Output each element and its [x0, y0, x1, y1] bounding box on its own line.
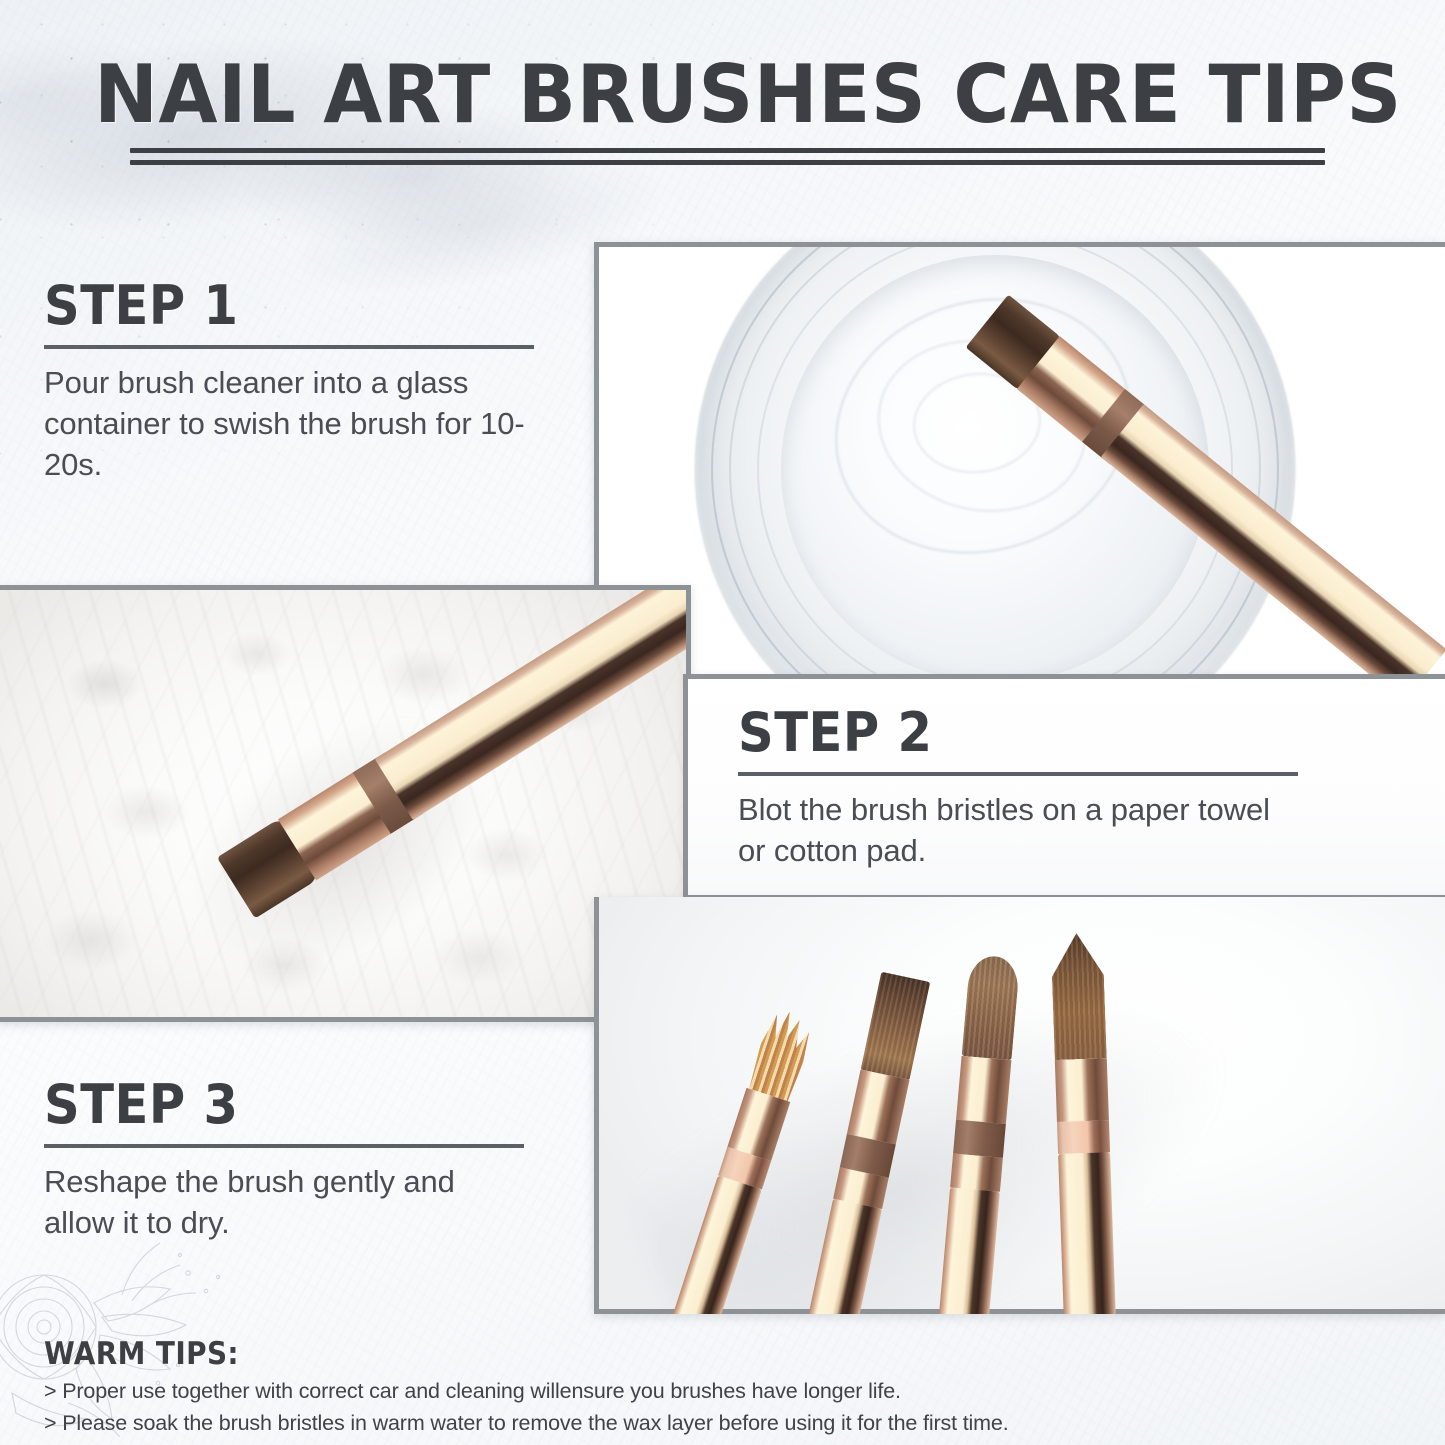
brush-set-shadow [605, 904, 1293, 1314]
step-1-body: Pour brush cleaner into a glass containe… [44, 363, 534, 486]
glass-container-scene [599, 247, 1445, 674]
step-2-text-block: STEP 2 Blot the brush bristles on a pape… [738, 705, 1298, 872]
step-1-rule [44, 345, 534, 349]
step-3-body: Reshape the brush gently and allow it to… [44, 1162, 524, 1244]
step-1-heading: STEP 1 [44, 278, 544, 333]
warm-tips-title: WARM TIPS: [44, 1336, 1244, 1372]
step-2-card: STEP 2 Blot the brush bristles on a pape… [683, 674, 1445, 900]
step-3-image-panel [594, 897, 1445, 1314]
step-2-heading: STEP 2 [738, 705, 1309, 760]
brush-set-scene [599, 897, 1445, 1309]
warm-tips-line-1: > Proper use together with correct car a… [44, 1376, 1244, 1408]
step-3-text-block: STEP 3 Reshape the brush gently and allo… [44, 1077, 524, 1244]
title-rule-top [130, 148, 1325, 153]
warm-tips-block: WARM TIPS: > Proper use together with co… [44, 1336, 1244, 1440]
page-title: NAIL ART BRUSHES CARE TIPS [94, 56, 1361, 134]
title-block: NAIL ART BRUSHES CARE TIPS [130, 56, 1325, 165]
step-2-body: Blot the brush bristles on a paper towel… [738, 790, 1298, 872]
paper-towel-scene [0, 590, 686, 1017]
step-1-text-block: STEP 1 Pour brush cleaner into a glass c… [44, 278, 534, 486]
step-2-image-panel [0, 585, 691, 1022]
step-3-rule [44, 1144, 524, 1148]
warm-tips-line-2: > Please soak the brush bristles in warm… [44, 1408, 1244, 1440]
step-3-heading: STEP 3 [44, 1077, 534, 1132]
title-underline-rules [130, 148, 1325, 165]
step-2-rule [738, 772, 1298, 776]
title-rule-bottom [130, 160, 1325, 165]
step-1-image-panel [594, 242, 1445, 679]
infographic-poster: NAIL ART BRUSHES CARE TIPS STEP 1 Pour b… [0, 0, 1445, 1445]
